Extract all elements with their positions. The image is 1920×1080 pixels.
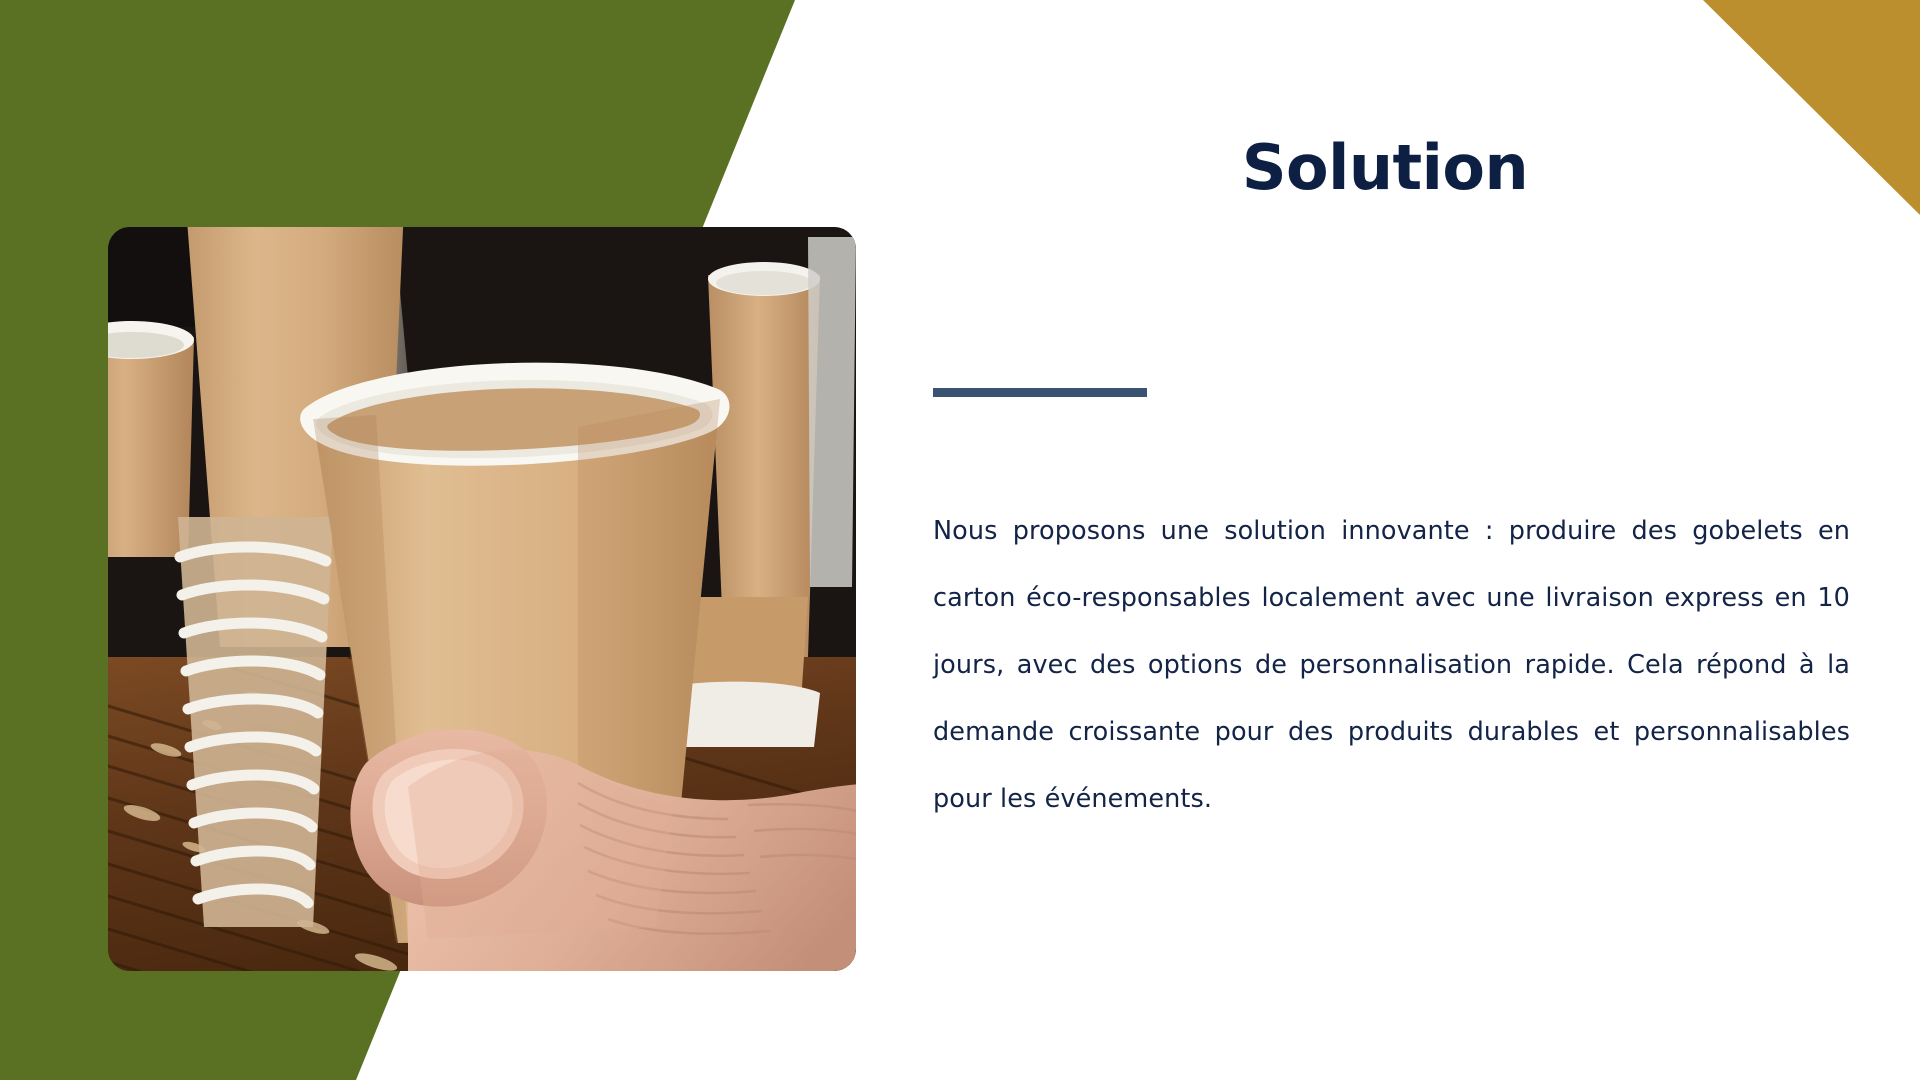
content-column: Solution Nous proposons une solution inn…	[920, 0, 1850, 1080]
page-title: Solution	[920, 137, 1850, 199]
title-divider-rule	[933, 388, 1147, 397]
body-paragraph-text: Nous proposons une solution innovante : …	[933, 498, 1850, 833]
photo-illustration	[108, 227, 856, 971]
slide-solution: Solution Nous proposons une solution inn…	[0, 0, 1920, 1080]
solution-photo	[108, 227, 856, 971]
body-paragraph: Nous proposons une solution innovante : …	[933, 498, 1850, 833]
